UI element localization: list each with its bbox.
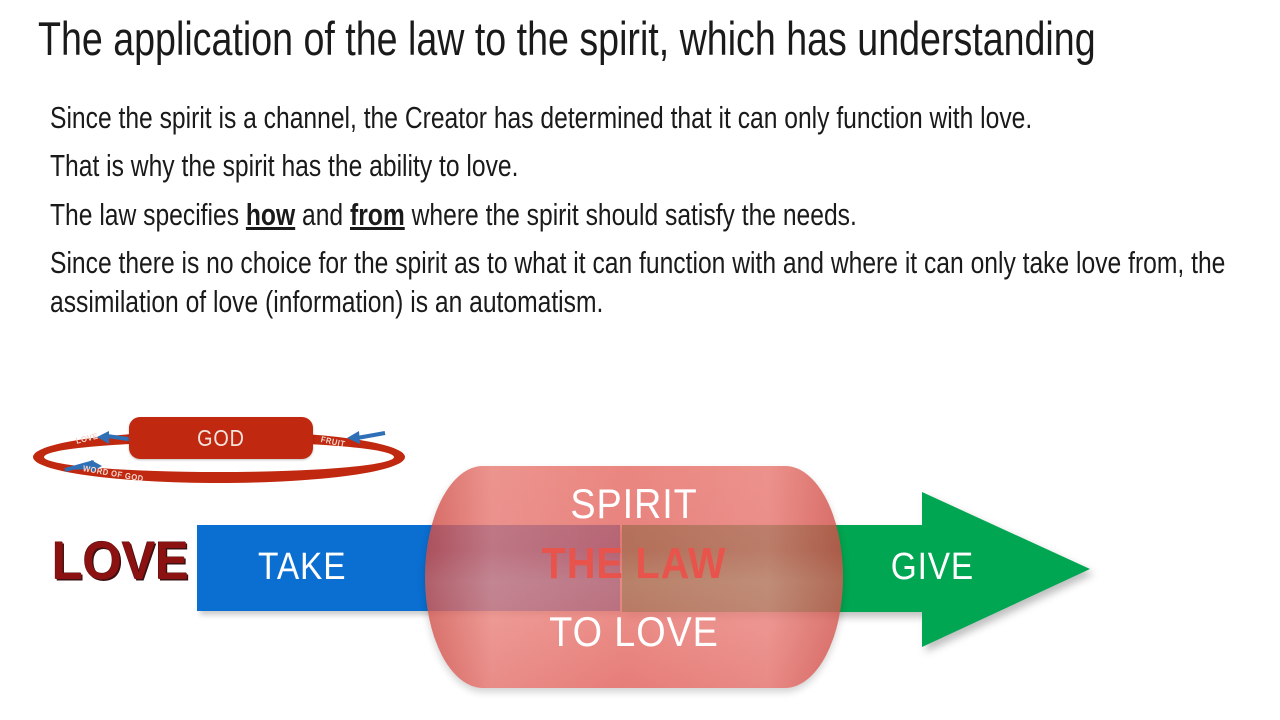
give-label: GIVE	[891, 546, 974, 589]
cylinder-label-spirit: SPIRIT	[446, 480, 822, 528]
body-text-block: Since the spirit is a channel, the Creat…	[50, 99, 1280, 331]
god-box: GOD	[129, 417, 313, 459]
emphasis-text: from	[350, 197, 405, 232]
emphasis-text: how	[246, 197, 295, 232]
paragraph-2: That is why the spirit has the ability t…	[50, 147, 1235, 185]
fruit-arrow-icon	[345, 429, 387, 444]
god-box-label: GOD	[142, 417, 300, 459]
paragraph-4: Since there is no choice for the spirit …	[50, 244, 1235, 321]
cylinder-label-to-love: TO LOVE	[446, 608, 822, 656]
slide-canvas: The application of the law to the spirit…	[0, 0, 1280, 720]
flow-left-label: LOVE	[52, 530, 189, 592]
spirit-cylinder: SPIRIT THE LAW TO LOVE	[425, 466, 843, 688]
paragraph-3: The law specifies how and from where the…	[50, 196, 1235, 234]
god-cycle-diagram: GOD LOVE FRUIT WORD OF GOD	[33, 413, 411, 485]
cylinder-label-the-law: THE LAW	[446, 539, 822, 589]
page-title: The application of the law to the spirit…	[38, 14, 1022, 65]
paragraph-1: Since the spirit is a channel, the Creat…	[50, 99, 1235, 137]
take-label: TAKE	[258, 546, 346, 589]
